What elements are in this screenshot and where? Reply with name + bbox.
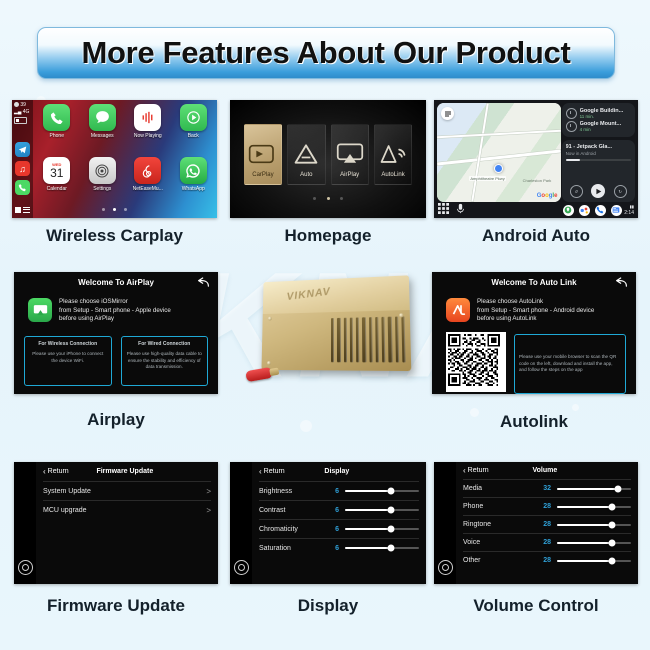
carplay-app-now-playing[interactable]: Now Playing	[127, 104, 169, 155]
app-label: Messages	[91, 133, 114, 139]
caption-firmware-update: Firmware Update	[14, 596, 218, 616]
suggestion-item[interactable]: Google Mount... 4 min	[566, 121, 631, 132]
device-body: VIKNAV	[261, 275, 411, 371]
device-top-panel	[263, 275, 410, 314]
apps-grid-icon[interactable]	[438, 201, 449, 218]
autolink-icon	[378, 142, 408, 166]
row-label: Media	[463, 485, 482, 492]
volume-panel: ‹Return Volume Media 32 Phone 28 Rington…	[456, 462, 638, 584]
device-screw	[267, 361, 271, 365]
app-label: Back	[188, 133, 199, 139]
row-value: 6	[322, 488, 339, 495]
box-title: For Wired Connection	[127, 341, 203, 347]
ringtone-volume-slider[interactable]	[557, 524, 631, 526]
media-controls: ↺ ↻	[566, 184, 631, 198]
carplay-app-messages[interactable]: Messages	[82, 104, 124, 155]
app-label: WhatsApp	[182, 186, 205, 192]
back-arrow-icon[interactable]	[197, 277, 210, 290]
volume-row-media[interactable]: Media 32	[463, 479, 631, 497]
assistant-icon[interactable]	[579, 205, 590, 216]
row-value: 6	[322, 526, 339, 533]
messages-icon	[89, 104, 116, 131]
suggestion-eta: 11 min.	[580, 114, 624, 119]
page-dot[interactable]	[102, 208, 105, 211]
screenshot-volume-control: ‹Return Volume Media 32 Phone 28 Rington…	[434, 462, 638, 584]
calendar-day: 31	[50, 167, 63, 179]
airplay-connection-boxes: For Wireless Connection Please use your …	[24, 336, 208, 386]
firmware-row-system-update[interactable]: System Update >	[43, 481, 211, 500]
caption-airplay: Airplay	[14, 410, 218, 430]
display-row-chromaticity[interactable]: Chromaticity 6	[259, 519, 419, 538]
carplay-app-grid: Phone Messages Now Playing	[36, 104, 214, 208]
return-button[interactable]: ‹Return	[259, 467, 285, 476]
maps-icon[interactable]	[563, 205, 574, 216]
row-label: Voice	[463, 539, 480, 546]
box-body: Please use your iPhone to connect the de…	[30, 351, 106, 364]
brightness-slider[interactable]	[345, 490, 419, 492]
volume-row-phone[interactable]: Phone 28	[463, 497, 631, 515]
android-auto-cards: Google Buildin... 11 min. Google Mount..…	[562, 103, 635, 202]
now-playing-icon	[134, 104, 161, 131]
homepage-page-dots	[230, 187, 426, 205]
box-body: Please use your mobile browser to scan t…	[519, 354, 621, 374]
contrast-slider[interactable]	[345, 509, 419, 511]
row-label: Ringtone	[463, 521, 491, 528]
iosmirror-icon	[28, 298, 52, 322]
mic-icon[interactable]	[456, 201, 465, 218]
row-label: MCU upgrade	[43, 507, 87, 514]
decor-bubble	[572, 404, 579, 411]
panel-title: Firmware Update	[69, 468, 181, 475]
title-banner: More Features About Our Product	[37, 27, 615, 79]
tile-label: AirPlay	[340, 172, 359, 178]
status-clock: ▮▮ 2:14	[624, 204, 634, 216]
device-vent-slots	[331, 316, 406, 362]
chevron-right-icon: >	[206, 506, 211, 515]
calendar-icon: WED 31	[43, 157, 70, 184]
homepage-tile-carplay[interactable]: CarPlay	[244, 124, 282, 185]
news-icon[interactable]	[611, 205, 622, 216]
media-progress-bar[interactable]	[566, 159, 631, 161]
display-row-contrast[interactable]: Contrast 6	[259, 500, 419, 519]
instruction-line: Please choose iOSMirror	[59, 298, 171, 307]
row-label: Saturation	[259, 545, 291, 552]
instruction-line: before using AutoLink	[477, 315, 594, 324]
autolink-qr-instruction-box: Please use your mobile browser to scan t…	[514, 334, 626, 394]
caption-wireless-carplay: Wireless Carplay	[12, 226, 217, 246]
carplay-page-dots	[12, 198, 217, 216]
clock-icon	[566, 108, 577, 119]
suggestion-card[interactable]: Google Buildin... 11 min. Google Mount..…	[562, 103, 635, 137]
tile-label: Auto	[300, 172, 312, 178]
app-label: Phone	[50, 133, 64, 139]
caption-homepage: Homepage	[230, 226, 426, 246]
android-auto-map[interactable]: Amphitheatre Pkwy Charleston Park Google	[437, 103, 561, 202]
cellular-icon: ▂▄	[14, 109, 21, 115]
return-button[interactable]: ‹Return	[463, 466, 489, 475]
volume-header: ‹Return Volume	[463, 462, 631, 479]
carplay-signal-value: 39	[20, 102, 26, 108]
row-value: 6	[322, 507, 339, 514]
signal-dot-icon	[14, 102, 19, 107]
left-rail	[230, 462, 252, 584]
airplay-icon	[336, 142, 364, 166]
airplay-title: Welcome To AirPlay	[14, 278, 218, 287]
google-logo: Google	[537, 193, 558, 199]
app-label: Now Playing	[134, 133, 162, 139]
whatsapp-icon	[180, 157, 207, 184]
navigation-badge-icon	[441, 107, 454, 120]
row-value: 32	[534, 485, 551, 492]
carplay-status-bar: 39 ▂▄ 4G	[14, 102, 29, 124]
instruction-line: Please choose AutoLink	[477, 298, 594, 307]
product-device-image: VIKNAV	[252, 262, 422, 394]
map-street-label: Amphitheatre Pkwy	[469, 176, 505, 181]
homepage-tile-auto[interactable]: Auto	[287, 124, 325, 185]
display-panel: ‹Return Display Brightness 6 Contrast 6 …	[252, 462, 426, 584]
row-label: Chromaticity	[259, 526, 298, 533]
tile-label: AutoLink	[381, 172, 404, 178]
caption-display: Display	[230, 596, 426, 616]
phone-icon[interactable]	[595, 205, 606, 216]
screenshot-homepage: CarPlay Auto AirPlay	[230, 100, 426, 218]
page-dot[interactable]	[124, 208, 127, 211]
netease-music-icon	[134, 157, 161, 184]
homepage-tiles: CarPlay Auto AirPlay	[244, 124, 413, 185]
page-dot-active[interactable]	[327, 197, 330, 200]
page-dot-active[interactable]	[113, 208, 116, 211]
telegram-icon[interactable]	[15, 142, 30, 157]
product-feature-poster: VIKNAV More Features About Our Product 3…	[0, 0, 650, 650]
row-label: System Update	[43, 488, 91, 495]
suggestion-eta: 4 min	[580, 127, 622, 132]
page-title: More Features About Our Product	[81, 35, 570, 71]
android-auto-taskbar: ▮▮ 2:14	[434, 202, 638, 218]
rewind-icon[interactable]: ↺	[570, 185, 583, 198]
wireless-connection-box: For Wireless Connection Please use your …	[24, 336, 112, 386]
netease-icon[interactable]: ♫	[15, 161, 30, 176]
page-dot[interactable]	[340, 197, 343, 200]
media-subtitle: Now in Android	[566, 151, 631, 156]
firmware-header: ‹Return Firmware Update	[43, 462, 211, 481]
instruction-line: from Setup - Smart phone - Android devic…	[477, 307, 594, 316]
saturation-slider[interactable]	[345, 547, 419, 549]
volume-row-ringtone[interactable]: Ringtone 28	[463, 515, 631, 533]
voice-volume-slider[interactable]	[557, 542, 631, 544]
firmware-panel: ‹Return Firmware Update System Update > …	[36, 462, 218, 584]
panel-title: Volume	[489, 467, 601, 474]
screenshot-wireless-carplay: 39 ▂▄ 4G ♫ Phone	[12, 100, 217, 218]
caption-autolink: Autolink	[432, 412, 636, 432]
other-volume-slider[interactable]	[557, 560, 631, 562]
forward-icon[interactable]: ↻	[614, 185, 627, 198]
airplay-instruction-block: Please choose iOSMirror from Setup - Sma…	[28, 298, 171, 324]
caption-android-auto: Android Auto	[434, 226, 638, 246]
qr-code	[446, 332, 506, 392]
display-row-brightness[interactable]: Brightness 6	[259, 481, 419, 500]
chevron-right-icon: >	[206, 487, 211, 496]
row-label: Brightness	[259, 488, 292, 495]
home-icon[interactable]	[18, 560, 33, 575]
homepage-tile-autolink[interactable]: AutoLink	[374, 124, 412, 185]
row-value: 28	[534, 539, 551, 546]
row-label: Phone	[463, 503, 483, 510]
carplay-app-back[interactable]: Back	[173, 104, 215, 155]
panel-title: Display	[285, 468, 389, 475]
play-icon[interactable]	[591, 184, 605, 198]
back-arrow-icon[interactable]	[615, 277, 628, 290]
device-antenna-connector	[245, 367, 273, 382]
row-value: 28	[534, 521, 551, 528]
autolink-instruction-block: Please choose AutoLink from Setup - Smar…	[446, 298, 594, 324]
home-icon[interactable]	[438, 560, 453, 575]
box-title: For Wireless Connection	[30, 341, 106, 347]
autolink-app-icon	[446, 298, 470, 322]
wired-connection-box: For Wired Connection Please use high-qua…	[121, 336, 209, 386]
volume-row-other[interactable]: Other 28	[463, 551, 631, 569]
instruction-line: from Setup - Smart phone - Apple device	[59, 307, 171, 316]
return-button[interactable]: ‹Return	[43, 467, 69, 476]
media-volume-slider[interactable]	[557, 488, 631, 490]
row-label: Contrast	[259, 507, 285, 514]
settings-icon	[89, 157, 116, 184]
media-title: 91 - Jetpack Gla...	[566, 144, 631, 150]
row-value: 28	[534, 503, 551, 510]
device-screw	[399, 313, 403, 317]
carplay-network: 4G	[23, 109, 30, 115]
home-icon[interactable]	[234, 560, 249, 575]
app-label: Calendar	[47, 186, 67, 192]
screenshot-firmware-update: ‹Return Firmware Update System Update > …	[14, 462, 218, 584]
row-value: 6	[322, 545, 339, 552]
device-screw	[268, 317, 272, 321]
autolink-title: Welcome To Auto Link	[432, 278, 636, 287]
tile-label: CarPlay	[252, 172, 273, 178]
row-value: 28	[534, 557, 551, 564]
airplay-instruction-text: Please choose iOSMirror from Setup - Sma…	[59, 298, 171, 324]
screenshot-android-auto: Amphitheatre Pkwy Charleston Park Google…	[434, 100, 638, 218]
page-dot[interactable]	[313, 197, 316, 200]
decor-bubble	[300, 420, 312, 432]
battery-icon	[14, 117, 27, 124]
phone-icon[interactable]	[15, 180, 30, 195]
clock-icon	[566, 121, 577, 132]
app-label: Settings	[93, 186, 111, 192]
row-label: Other	[463, 557, 481, 564]
screenshot-display: ‹Return Display Brightness 6 Contrast 6 …	[230, 462, 426, 584]
phone-icon	[43, 104, 70, 131]
map-place-label: Charleston Park	[522, 178, 553, 183]
left-rail	[14, 462, 36, 584]
chromaticity-slider[interactable]	[345, 528, 419, 530]
screenshot-autolink: Welcome To Auto Link Please choose AutoL…	[432, 272, 636, 394]
carplay-app-phone[interactable]: Phone	[36, 104, 78, 155]
volume-row-voice[interactable]: Voice 28	[463, 533, 631, 551]
autolink-instruction-text: Please choose AutoLink from Setup - Smar…	[477, 298, 594, 324]
homepage-tile-airplay[interactable]: AirPlay	[331, 124, 369, 185]
app-label: NetEaseMu...	[133, 186, 163, 192]
suggestion-item[interactable]: Google Buildin... 11 min.	[566, 108, 631, 119]
instruction-line: before using AirPlay	[59, 315, 171, 324]
left-rail	[434, 462, 456, 584]
media-card[interactable]: 91 - Jetpack Gla... Now in Android ↺ ↻	[562, 140, 635, 202]
android-auto-icon	[293, 142, 319, 166]
display-header: ‹Return Display	[259, 462, 419, 481]
screenshot-airplay: Welcome To AirPlay Please choose iOSMirr…	[14, 272, 218, 394]
display-row-saturation[interactable]: Saturation 6	[259, 538, 419, 557]
box-body: Please use high-quality data cable to en…	[127, 351, 203, 371]
firmware-row-mcu-upgrade[interactable]: MCU upgrade >	[43, 500, 211, 519]
caption-volume-control: Volume Control	[434, 596, 638, 616]
carplay-icon	[248, 142, 278, 166]
phone-volume-slider[interactable]	[557, 506, 631, 508]
back-icon	[180, 104, 207, 131]
